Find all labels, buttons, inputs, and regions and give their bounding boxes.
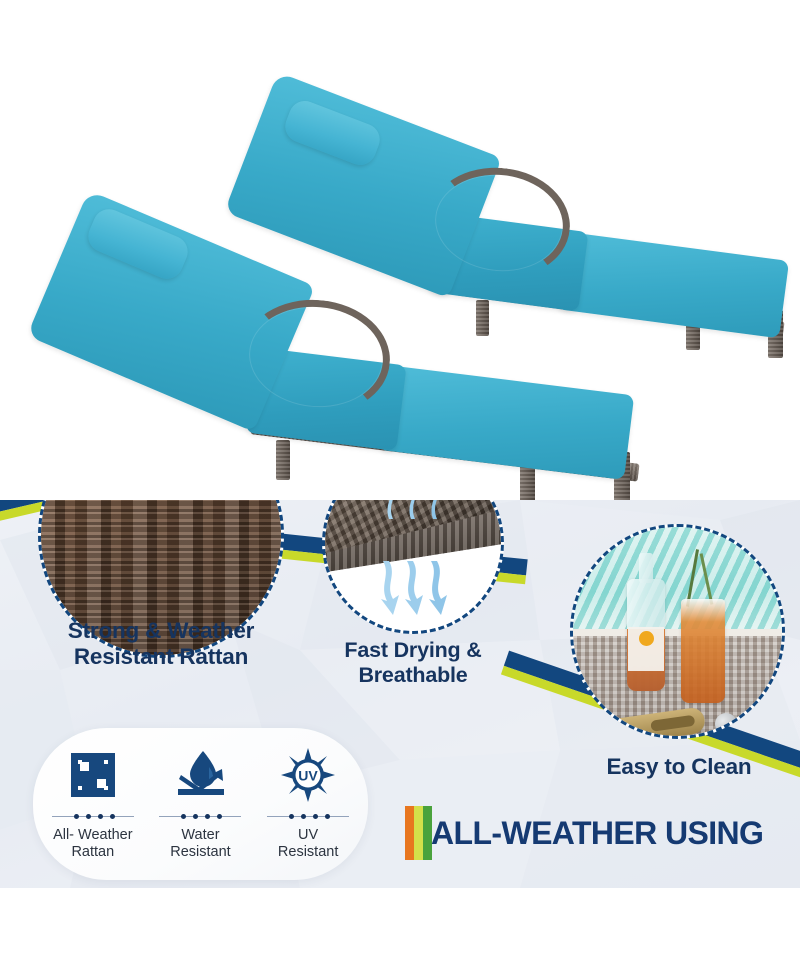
water-drop-repel-icon	[173, 747, 227, 803]
feature-caption-line1: Easy to Clean	[586, 754, 772, 780]
airflow-up-arrows	[381, 500, 453, 523]
pool-water-background	[573, 527, 782, 636]
badge-label: Water Resistant	[170, 827, 230, 861]
headline-accent-bars	[405, 806, 432, 860]
product-infographic-page: Strong & Weather Resistant Rattan	[0, 0, 800, 977]
accent-bar-yellow	[414, 806, 423, 860]
feature-caption-rattan: Strong & Weather Resistant Rattan	[20, 618, 302, 670]
badge-label-line2: Rattan	[53, 844, 133, 861]
headline-text: ALL-WEATHER USING	[431, 815, 763, 852]
leg-back-left	[476, 300, 489, 336]
drinks-on-table-image	[573, 527, 782, 736]
woven-rattan-icon	[68, 747, 118, 803]
bottle-cap	[715, 713, 737, 735]
iced-tea-glass	[681, 599, 725, 703]
feature-caption-easy-to-clean: Easy to Clean	[586, 754, 772, 780]
feature-circle-easy-to-clean	[570, 524, 785, 739]
bottle-label-badge	[639, 631, 654, 646]
uv-sun-icon: UV	[281, 747, 335, 803]
badge-all-weather-rattan: All- Weather Rattan	[41, 747, 145, 861]
feature-caption-line2: Resistant Rattan	[20, 644, 302, 670]
leg-front-left	[276, 440, 290, 480]
feature-badges-card: All- Weather Rattan	[33, 728, 368, 880]
feature-circle-fast-drying	[322, 500, 504, 634]
airflow-down-arrows	[377, 559, 459, 621]
feature-caption-fast-drying: Fast Drying & Breathable	[306, 638, 520, 688]
badge-label-line2: Resistant	[170, 844, 230, 861]
feature-caption-line1: Fast Drying &	[306, 638, 520, 663]
product-photo	[0, 0, 800, 500]
badge-label-line1: All- Weather	[53, 827, 133, 844]
badge-label: All- Weather Rattan	[53, 827, 133, 861]
badge-label: UV Resistant	[278, 827, 338, 861]
feature-caption-line1: Strong & Weather	[20, 618, 302, 644]
badge-divider	[52, 812, 134, 821]
badge-divider	[267, 812, 349, 821]
badge-label-line2: Resistant	[278, 844, 338, 861]
breathable-cushion-image	[325, 500, 501, 631]
badge-label-line1: Water	[170, 827, 230, 844]
cushion-front-foot	[378, 365, 635, 480]
bottom-white-margin	[0, 888, 800, 977]
cushion-back-foot	[556, 232, 789, 339]
sparkling-drink-bottle	[627, 579, 665, 691]
uv-icon-text: UV	[298, 767, 318, 783]
feature-caption-line2: Breathable	[306, 663, 520, 688]
badge-water-resistant: Water Resistant	[148, 747, 252, 861]
badge-label-line1: UV	[278, 827, 338, 844]
headline-all-weather-using: ALL-WEATHER USING	[405, 806, 763, 860]
accent-bar-orange	[405, 806, 414, 860]
badge-divider	[159, 812, 241, 821]
badge-uv-resistant: UV UV Resistant	[256, 747, 360, 861]
